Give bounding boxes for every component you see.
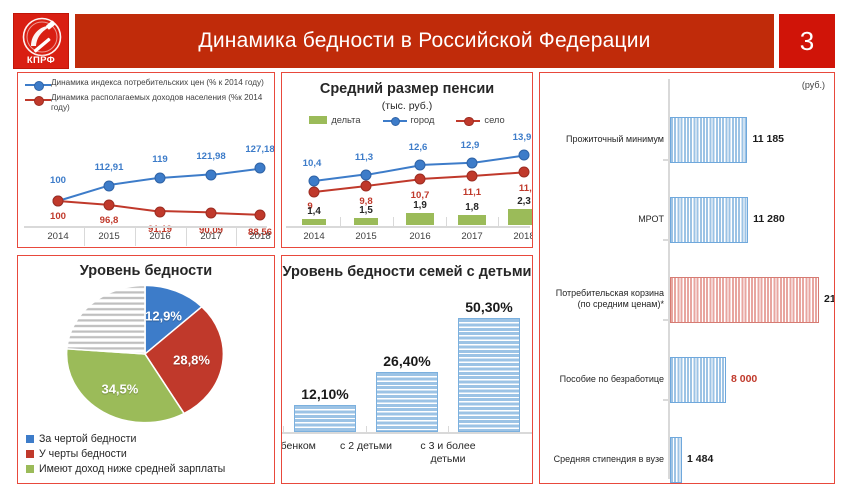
data-point [206,207,217,218]
chart-panel-families: Уровень бедности семей с детьми 12,10%с … [281,255,533,484]
poverty-pie: 12,9%28,8%34,5% [65,284,225,424]
pension-x-tick: 2014 [303,231,324,242]
cpi-x-tick: 2018 [249,231,270,242]
families-category-label: с 2 детьми [325,440,407,453]
line-segment [420,162,472,166]
line-segment [211,212,260,216]
pie-slice [67,285,145,354]
line-segment [58,200,109,206]
minimums-bar [670,117,747,163]
cpi-plot-area: 100112,91119121,98127,1810096,891,1990,0… [18,73,274,247]
chart-panel-minimums: (руб.) 11 185Прожиточный минимум11 280МР… [539,72,835,484]
minimums-bar [670,357,726,403]
cpi-x-axis [24,226,267,228]
minimums-bar [670,437,682,483]
line-segment [366,164,420,176]
poverty-legend: За чертой бедности У черты бедности Имею… [26,433,270,478]
pension-x-tick: 2015 [355,231,376,242]
families-bar-value: 12,10% [301,386,348,402]
pension-city-label: 10,4 [303,158,322,169]
cpi-index-label: 127,18 [245,144,274,155]
pension-city-label: 11,3 [355,152,373,163]
data-point [255,163,266,174]
pension-x-tick: 2016 [409,231,430,242]
poverty-chart-title: Уровень бедности [18,263,274,279]
line-segment [109,177,160,186]
data-point [361,180,372,191]
axis-tick [663,319,669,321]
axis-tick [663,239,669,241]
data-point [467,157,478,168]
families-category-label: с 1 ребенком [282,440,325,453]
families-plot-area: 12,10%с 1 ребенком26,40%с 2 детьми50,30%… [282,256,532,483]
data-point [519,167,530,178]
minimums-category-label: Пособие по безработице [544,374,664,385]
pension-city-label: 12,6 [409,142,428,153]
line-segment [420,175,472,180]
swatch-green-icon [26,465,34,473]
cpi-index-label: 119 [152,154,167,165]
axis-tick [663,159,669,161]
pie-slice-label: 34,5% [101,381,138,396]
chart-panel-pension: Средний размер пенсии (тыс. руб.) дельта… [281,72,533,248]
minimums-bar-value: 21 784 [824,293,834,305]
line-segment [472,171,524,177]
delta-bar [354,218,379,225]
cpi-income-label: 96,8 [100,215,119,226]
minimums-bar [670,197,748,243]
chart-panel-cpi: Динамика индекса потребительских цен (% … [17,72,275,248]
axis-tick [283,426,284,433]
pension-village-label: 11,6 [519,183,532,194]
cpi-index-label: 100 [50,175,66,186]
data-point [361,169,372,180]
minimums-bar-value: 8 000 [731,373,757,385]
pension-city-label: 12,9 [461,140,480,151]
line-segment [472,154,524,164]
families-bar-value: 26,40% [383,353,430,369]
pension-x-tick: 2017 [461,231,482,242]
kprf-logo: КПРФ [13,13,69,69]
axis-tick [186,226,187,246]
axis-tick [84,226,85,246]
line-segment [314,185,366,193]
line-segment [160,210,211,214]
data-point [155,173,166,184]
pension-village-label: 11,1 [463,187,481,198]
line-segment [211,167,260,175]
pie-slice-label: 28,8% [173,352,210,367]
data-point [53,196,64,207]
slide-number-value: 3 [800,26,814,57]
pension-plot-area: 10,411,312,612,913,999,810,711,111,61,41… [282,73,532,247]
minimums-category-label: МРОТ [544,214,664,225]
families-bar-value: 50,30% [465,299,512,315]
minimums-category-label: Прожиточный минимум [544,134,664,145]
delta-label: 1,8 [465,202,479,213]
data-point [155,206,166,217]
line-segment [314,174,366,183]
page-title: Динамика бедности в Российской Федерации [198,29,650,53]
pension-village-label: 10,7 [411,190,430,201]
axis-tick [135,226,136,246]
axis-tick [366,426,367,433]
data-point [415,174,426,185]
families-bar [458,318,520,432]
minimums-category-label: Потребительская корзина(по средним ценам… [544,288,664,311]
data-point [309,176,320,187]
data-point [467,171,478,182]
axis-tick [236,226,237,246]
legend-item-below-avg-wage: Имеют доход ниже средней зарплаты [26,463,270,475]
legend-item-at-poverty: У черты бедности [26,448,270,460]
axis-tick [448,426,449,433]
cpi-income-label: 100 [50,211,66,222]
line-segment [160,174,211,180]
line-segment [109,204,160,213]
cpi-x-tick: 2015 [98,231,119,242]
cpi-index-label: 112,91 [95,162,124,173]
data-point [104,180,115,191]
data-point [255,209,266,220]
pie-slice-label: 12,9% [145,309,182,324]
delta-bar [458,215,485,225]
slide-number-badge: 3 [779,14,835,68]
legend-label: У черты бедности [39,448,127,460]
legend-label: Имеют доход ниже средней зарплаты [39,463,225,475]
minimums-bar-value: 1 484 [687,453,713,465]
cpi-x-tick: 2017 [200,231,221,242]
title-bar: Динамика бедности в Российской Федерации [75,14,774,68]
cpi-x-tick: 2014 [47,231,68,242]
swatch-blue-icon [26,435,34,443]
minimums-bar [670,277,819,323]
legend-item-below-poverty: За чертой бедности [26,433,270,445]
line-segment [366,178,420,187]
families-category-label: с 3 и более детьми [407,440,489,466]
line-segment [58,184,110,202]
families-bar [294,405,356,433]
data-point [415,160,426,171]
chart-panel-poverty: Уровень бедности 12,9%28,8%34,5% З [17,255,275,484]
data-point [104,199,115,210]
delta-label: 1,4 [307,206,321,217]
data-point [519,150,530,161]
axis-tick [663,399,669,401]
pension-city-label: 13,9 [513,132,532,143]
delta-label: 1,9 [413,200,427,211]
slide: КПРФ Динамика бедности в Российской Феде… [0,0,850,490]
cpi-index-label: 121,98 [196,151,225,162]
delta-label: 1,5 [359,205,373,216]
pension-x-tick: 2018 [513,231,532,242]
swatch-red-icon [26,450,34,458]
minimums-bar-value: 11 185 [752,133,784,145]
minimums-bar-value: 11 280 [753,213,785,225]
families-bar [376,372,438,432]
delta-label: 2,3 [517,196,531,207]
delta-bar [406,213,434,225]
data-point [309,186,320,197]
data-point [206,169,217,180]
cpi-x-tick: 2016 [149,231,170,242]
delta-bar [508,209,532,225]
logo-label: КПРФ [27,56,55,69]
pension-x-axis [286,226,530,228]
minimums-category-label: Средняя стипендия в вузе [544,454,664,465]
minimums-plot-area: 11 185Прожиточный минимум11 280МРОТ21 78… [540,73,834,483]
legend-label: За чертой бедности [39,433,136,445]
delta-bar [302,219,326,225]
